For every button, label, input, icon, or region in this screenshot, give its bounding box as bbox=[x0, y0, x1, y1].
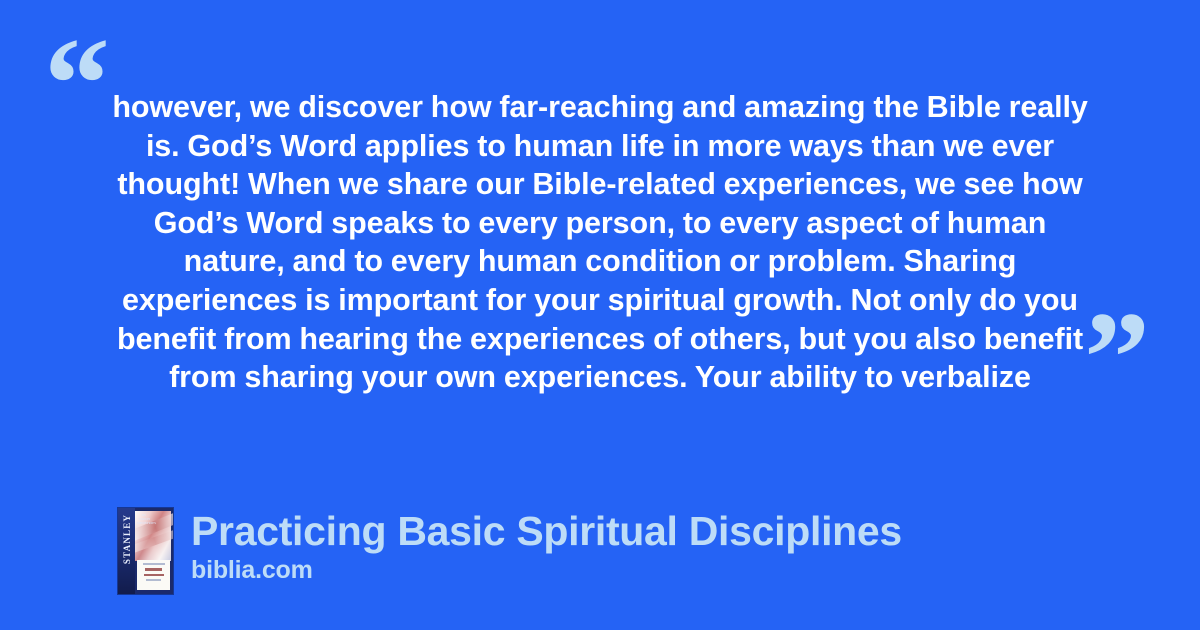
quote-text: however, we discover how far-reaching an… bbox=[112, 88, 1088, 397]
book-cover-thumbnail: STANLEY IN TOUCH MINISTRIES bbox=[118, 508, 173, 594]
open-quote-icon: “ bbox=[44, 18, 110, 150]
quote-block: “ however, we discover how far-reaching … bbox=[0, 0, 1200, 470]
close-quote-icon: ” bbox=[1084, 292, 1150, 424]
book-cover-title-panel bbox=[137, 560, 170, 590]
site-name: biblia.com bbox=[191, 556, 902, 584]
book-cover-spine: STANLEY bbox=[118, 508, 135, 594]
quote-card: “ however, we discover how far-reaching … bbox=[0, 0, 1200, 630]
attribution-text: Practicing Basic Spiritual Disciplines b… bbox=[191, 508, 902, 584]
book-title: Practicing Basic Spiritual Disciplines bbox=[191, 508, 902, 554]
book-cover-imprint: IN TOUCH MINISTRIES bbox=[137, 513, 151, 525]
book-cover-footer-band bbox=[137, 590, 170, 594]
attribution-footer: STANLEY IN TOUCH MINISTRIES Practicing B… bbox=[118, 508, 902, 594]
book-cover-author-name: STANLEY bbox=[122, 513, 132, 565]
